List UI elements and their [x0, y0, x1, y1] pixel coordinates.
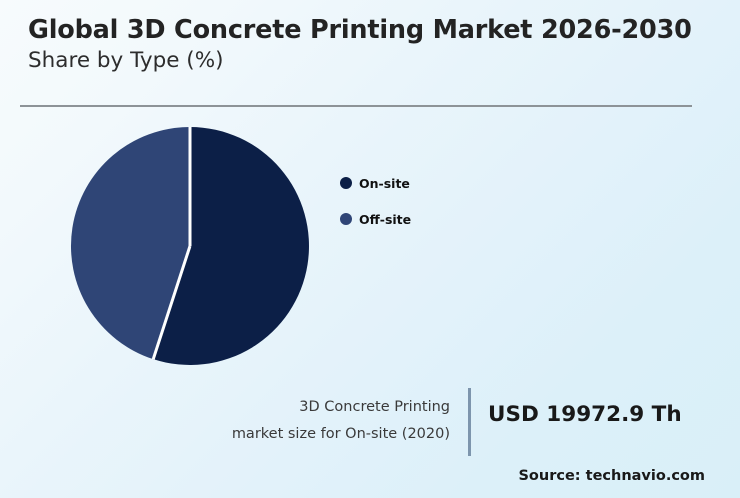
page-subtitle: Share by Type (%) [28, 48, 708, 74]
legend-label-on-site: On-site [359, 176, 410, 191]
pie-chart [70, 126, 310, 366]
source-attribution: Source: technavio.com [518, 468, 705, 484]
legend-swatch-circle-icon [340, 177, 352, 189]
legend-label-off-site: Off-site [359, 212, 411, 227]
market-size-callout: 3D Concrete Printing market size for On-… [190, 388, 710, 460]
legend-swatch-circle-icon [340, 213, 352, 225]
header-divider [20, 105, 692, 107]
legend-item-on-site[interactable]: On-site [340, 172, 411, 194]
infographic-canvas: Global 3D Concrete Printing Market 2026-… [0, 0, 740, 498]
legend-item-off-site[interactable]: Off-site [340, 208, 411, 230]
pie-chart-svg [70, 126, 310, 366]
title-block: Global 3D Concrete Printing Market 2026-… [28, 14, 708, 74]
page-title: Global 3D Concrete Printing Market 2026-… [28, 14, 708, 46]
callout-description: 3D Concrete Printing market size for On-… [200, 394, 450, 448]
chart-legend: On-site Off-site [340, 172, 411, 244]
callout-value: USD 19972.9 Th [488, 402, 682, 427]
callout-divider [468, 388, 471, 456]
